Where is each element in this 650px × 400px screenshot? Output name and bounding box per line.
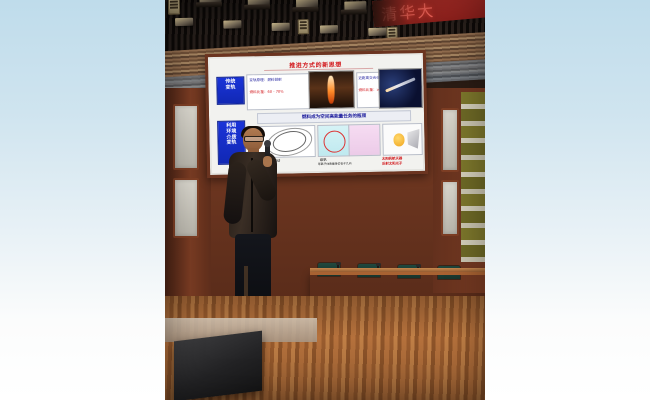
stage-monitor-screen — [174, 331, 262, 400]
slide-image-rocket-engine — [308, 70, 355, 109]
presenter-hand — [263, 156, 272, 167]
screenshot-canvas: 清华大 推进方式的新思想 传统 变轨 利用 环境 介质 变轨 — [0, 0, 650, 400]
ceiling-light-housing — [341, 9, 367, 15]
magsail-ring — [323, 130, 345, 152]
wall-panel-insert — [441, 108, 459, 172]
presenter-glasses — [244, 136, 264, 142]
sun-icon — [393, 133, 405, 146]
ceiling-light — [272, 23, 290, 31]
ceiling-light — [320, 25, 338, 33]
slide-diagram-magsail-left — [317, 124, 350, 157]
slide-category-traditional-label: 传统 变轨 — [225, 79, 235, 91]
solar-sail-icon — [407, 129, 420, 149]
slide-text-top-1: 变轨原理：燃料抛射 — [249, 78, 281, 84]
ceiling-light — [368, 28, 386, 36]
ceiling-light-housing — [292, 7, 318, 13]
ceiling-light-housing — [196, 2, 222, 8]
slide-category-traditional: 传统 变轨 — [216, 76, 245, 105]
conference-photo: 清华大 推进方式的新思想 传统 变轨 利用 环境 介质 变轨 — [165, 0, 485, 400]
ceiling-light-housing — [244, 4, 270, 10]
ceiling-speaker-grille — [298, 19, 309, 34]
ceiling-light — [175, 18, 193, 26]
slide-diagram-magsail-right — [348, 124, 381, 157]
slide-mid-band: 燃料成为空间高能量任务的瓶颈 — [257, 110, 411, 124]
slide-mid-band-text: 燃料成为空间高能量任务的瓶颈 — [302, 113, 366, 120]
slide-text-top-2: 燃料比重：60 - 70% — [250, 90, 284, 96]
wall-panel-insert — [173, 178, 199, 238]
slide-image-spacecraft — [378, 68, 423, 109]
slide-diagram-solar-sail — [382, 123, 423, 156]
ceiling-light — [223, 20, 241, 28]
slide-caption-3b: 反射太阳光子 — [382, 160, 402, 165]
acoustic-panels-olive — [461, 92, 485, 262]
wall-panel-insert — [441, 180, 459, 236]
slide-caption-2b: 等离子体质量单位石子几内 — [318, 161, 352, 166]
ceiling-speaker-grille — [168, 0, 180, 15]
wall-panel-insert — [173, 104, 199, 170]
